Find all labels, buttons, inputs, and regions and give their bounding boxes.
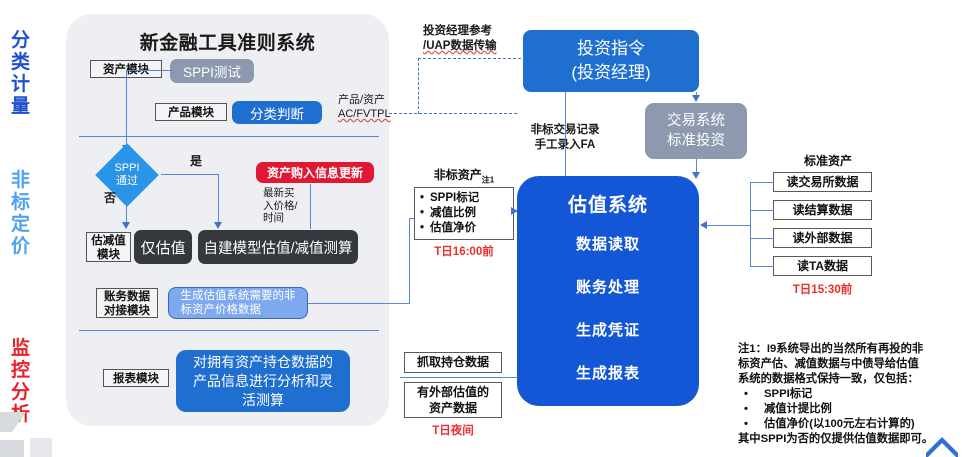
rail-item-nonstandard-pricing: 非标定价 [4,170,38,258]
valuation-item: 生成报表 [576,362,640,383]
footnote-line1: 注1：I9系统导出的当然所有再投的非 [738,342,969,357]
nonstandard-heading: 非标资产注1 [414,166,514,185]
fetch-positions-box[interactable]: 抓取持仓数据 [404,352,502,373]
arrowhead-standard [700,221,707,229]
tag-report-module: 报表模块 [103,369,169,387]
order-line1: 投资指令 [571,37,650,61]
trade-line1: 交易系统 [667,111,725,131]
standard-bracket-v [750,182,751,266]
rail-label-char: 非标定价 [4,170,38,258]
external-line1: 有外部估值的 [417,384,489,400]
footnote-line3: 系统的数据格式保持一致，仅包括： [738,372,969,387]
nonstandard-heading-sup: 注1 [482,175,494,184]
update-note-line1: 最新买 [263,187,303,200]
report-line3: 活测算 [193,391,333,410]
connector-tag-to-sppi [126,70,172,71]
dashed-connector-h-upper [418,58,526,59]
footnote-tail: 其中SPPI为否的仅提供估值数据即可。 [738,432,969,447]
self-built-model-box[interactable]: 自建模型估值/减值测算 [198,230,358,264]
connector-genprice-right [306,303,410,304]
footnote-bullet: 估值净价(以100元左右计算的) [738,417,969,432]
tag-account-line1: 账务数据 [100,290,154,304]
valuation-system-box[interactable]: 估值系统 数据读取 账务处理 生成凭证 生成报表 [517,176,699,406]
classification-judgement-box[interactable]: 分类判断 [232,101,322,124]
valuation-item: 生成凭证 [576,319,640,340]
asset-purchase-update-box[interactable]: 资产购入信息更新 [256,162,374,183]
classify-note-line2: AC/FVTPL [338,107,400,121]
arrowhead-no [122,222,130,229]
investment-order-box[interactable]: 投资指令 (投资经理) [523,30,699,92]
gen-price-line1: 生成估值系统需要的非 [181,289,296,303]
connector-standard-to-valuation [706,225,751,226]
footnote-block: 注1：I9系统导出的当然所有再投的非 标资产估、减值数据与中债导给估值 系统的数… [738,342,969,447]
sppi-pass-decision[interactable]: SPPI 通过 [91,147,163,203]
connector-manual-v [565,92,566,177]
connector-bottomleft-to-valuation [400,377,518,378]
list-item: 估值净价 [420,221,508,236]
sppi-test-box[interactable]: SPPI测试 [170,59,254,83]
nonstandard-asset-listbox: SPPI标记 减值比例 估值净价 [414,187,514,240]
connector-genprice-up [409,218,410,304]
valuation-item: 账务处理 [576,276,640,297]
standard-bracket-h4 [750,266,774,267]
investment-manager-reference-note: 投资经理参考 /UAP数据传输 [423,24,531,54]
tag-account-line2: 对接模块 [100,304,154,318]
connector-update-down [310,184,311,229]
list-item: 减值比例 [420,206,508,221]
standard-deadline: T日15:30前 [773,281,872,297]
report-line1: 对拥有资产持仓数据的 [193,353,333,372]
standard-asset-group: 标准资产 [773,152,883,169]
tag-product-module: 产品模块 [155,103,227,121]
standard-bracket-h3 [750,238,774,239]
connector-yes-h [161,174,219,175]
nonstandard-heading-text: 非标资产 [434,168,482,182]
diamond-line1: SPPI [114,162,139,175]
connector-asset-to-diamond [126,70,127,147]
external-line2: 资产数据 [417,400,489,416]
panel-divider-2 [79,330,379,331]
classify-note-line1: 产品/资产 [338,93,400,107]
bottom-left-deadline: T日夜间 [404,422,502,438]
standard-item-settlement-data[interactable]: 读结算数据 [773,200,872,220]
report-line2: 产品信息进行分析和灵 [193,372,333,391]
tag-impair-line2: 模块 [90,248,127,262]
valuation-item: 数据读取 [576,233,640,254]
generate-price-data-box[interactable]: 生成估值系统需要的非 标资产价格数据 [168,287,308,319]
report-analysis-box[interactable]: 对拥有资产持仓数据的 产品信息进行分析和灵 活测算 [176,350,350,412]
trade-line2: 标准投资 [667,131,725,151]
only-valuation-box[interactable]: 仅估值 [134,230,192,264]
nonstandard-deadline: T日16:00前 [414,243,514,259]
rail-label-char: 分类计量 [4,30,38,118]
external-valuation-assets-box[interactable]: 有外部估值的 资产数据 [404,382,502,418]
footnote-bullet: 减值计提比例 [738,402,969,417]
arrowhead-order-to-trade [692,95,700,102]
panel-divider-1 [79,136,379,137]
list-item: SPPI标记 [420,191,508,206]
trading-system-box[interactable]: 交易系统 标准投资 [645,103,747,159]
dashed-connector-h-lower [389,113,517,114]
order-line2: (投资经理) [571,61,650,85]
standard-item-exchange-data[interactable]: 读交易所数据 [773,172,872,192]
dashed-note-line1: 投资经理参考 [423,24,531,39]
tag-accounting-docking-module: 账务数据 对接模块 [96,288,158,318]
valuation-title: 估值系统 [568,190,648,217]
asset-purchase-update-note: 最新买 入价格/ 时间 [263,187,303,225]
branch-label-yes: 是 [190,155,202,169]
diagram-canvas: 分类计量 非标定价 监控分析 新金融工具准则系统 资产模块 SPPI测试 产品模… [0,0,969,457]
update-note-line2: 入价格/ [263,200,303,213]
standard-heading: 标准资产 [773,152,883,169]
diamond-line2: 通过 [116,175,138,188]
standard-item-external-data[interactable]: 读外部数据 [773,228,872,248]
dashed-connector-v [418,58,419,114]
classification-output-note: 产品/资产 AC/FVTPL [338,93,400,121]
footnote-bullet: SPPI标记 [738,387,969,402]
arrowhead-trade-to-valuation [692,172,700,179]
diamond-text: SPPI 通过 [91,147,163,203]
standard-bracket-h2 [750,210,774,211]
panel-title: 新金融工具准则系统 [66,28,389,55]
tag-impair-line1: 估减值 [90,234,127,248]
rail-item-classification: 分类计量 [4,30,38,118]
connector-no-v [126,203,127,224]
tag-impairment-module: 估减值 模块 [86,232,131,262]
update-note-line3: 时间 [263,212,303,225]
arrowhead-yes [214,222,222,229]
gen-price-line2: 标资产价格数据 [181,303,296,317]
nonstandard-asset-group: 非标资产注1 SPPI标记 减值比例 估值净价 T日16:00前 [414,166,514,259]
standard-bracket-h1 [750,182,774,183]
connector-yes-v [218,174,219,224]
dashed-note-line2: /UAP数据传输 [423,39,531,54]
standard-item-ta-data[interactable]: 读TA数据 [773,256,872,276]
branch-label-no: 否 [104,192,116,206]
decorative-grey-arrow [0,398,58,457]
footnote-line2: 标资产估、减值数据与中债导给估值 [738,357,969,372]
